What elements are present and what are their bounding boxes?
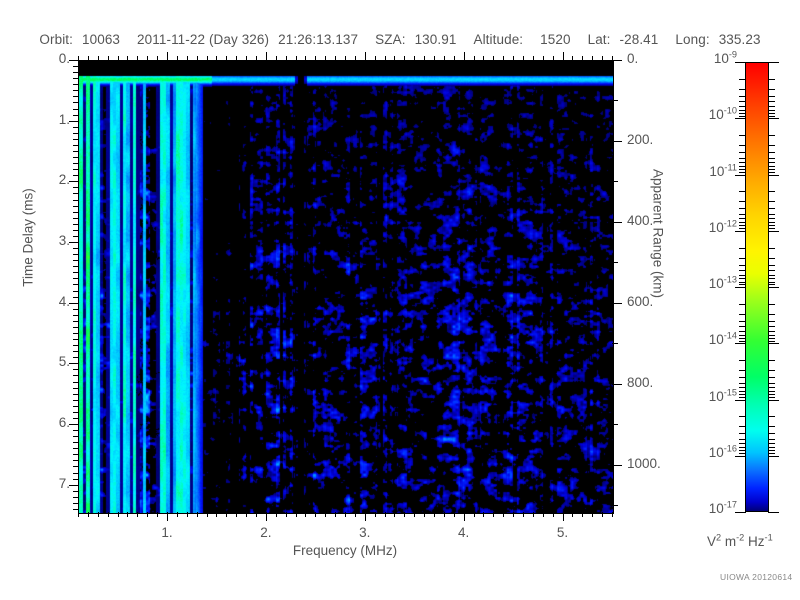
colorbar-tick-minor-right <box>768 397 775 398</box>
colorbar-units-label: V2 m-2 Hz-1 <box>707 534 773 549</box>
ionogram-plot-area <box>78 60 614 514</box>
colorbar-tick-minor-right <box>768 304 775 305</box>
colorbar-tick-minor-right <box>768 453 775 454</box>
colorbar-tick-label: 10-16 <box>679 445 737 460</box>
colorbar-tick-minor-right <box>768 341 775 342</box>
colorbar-tick-minor-right <box>768 96 775 97</box>
colorbar-tick-minor-right <box>768 110 775 111</box>
colorbar-tick-major-right <box>768 512 779 513</box>
colorbar-tick-major-left <box>735 512 746 513</box>
colorbar-tick-minor-right <box>768 321 775 322</box>
x-tick-label: 4. <box>444 525 484 540</box>
colorbar-tick-minor-right <box>768 172 775 173</box>
colorbar-tick-minor-right <box>768 433 775 434</box>
colorbar-tick-minor-right <box>768 338 775 339</box>
colorbar-tick-major-right <box>768 62 779 63</box>
y2-tick-label: 200. <box>627 132 687 147</box>
colorbar-tick-minor-right <box>768 314 775 315</box>
colorbar-tick-major-right <box>768 287 779 288</box>
lat-value: -28.41 <box>620 32 659 47</box>
credit-label: UIOWA 20120614 <box>720 572 792 582</box>
colorbar-tick-label: 10-10 <box>679 107 737 122</box>
colorbar-tick-label: 10-9 <box>679 51 737 66</box>
observation-date: 2011-11-22 (Day 326) <box>137 32 269 47</box>
colorbar-tick-major-right <box>768 118 779 119</box>
y2-axis-label-wrap: Apparent Range (km) <box>648 226 738 241</box>
colorbar-tick-minor-right <box>768 79 775 80</box>
long-value: 335.23 <box>719 32 761 47</box>
colorbar-tick-minor-right <box>768 391 775 392</box>
y-tick-label: 0. <box>26 51 70 66</box>
colorbar-tick-minor-right <box>768 218 775 219</box>
colorbar-tick-minor-right <box>768 208 775 209</box>
colorbar-tick-minor-right <box>768 326 775 327</box>
colorbar-tick-major-right <box>768 231 779 232</box>
header-metadata-line: Orbit:100632011-11-22 (Day 326)21:26:13.… <box>0 30 800 48</box>
y2-axis-label: Apparent Range (km) <box>651 154 666 314</box>
observation-time: 21:26:13.137 <box>278 32 358 47</box>
colorbar-tick-minor-right <box>768 394 775 395</box>
colorbar-tick-major-right <box>768 400 779 401</box>
colorbar-tick-minor-right <box>768 426 775 427</box>
colorbar-tick-major-right <box>768 456 779 457</box>
x-tick-label: 5. <box>543 525 583 540</box>
y2-tick-label: 0. <box>627 51 687 66</box>
sza-label: SZA: <box>375 32 405 47</box>
orbit-label: Orbit: <box>39 32 73 47</box>
colorbar-tick-minor-right <box>768 377 775 378</box>
y-tick-label: 6. <box>26 415 70 430</box>
colorbar-tick-minor-right <box>768 228 775 229</box>
colorbar-tick-major-right <box>768 175 779 176</box>
colorbar-tick-label: 10-17 <box>679 501 737 516</box>
x-tick-label: 2. <box>246 525 286 540</box>
y-tick-label: 1. <box>26 112 70 127</box>
y2-tick-label: 1000. <box>627 456 687 471</box>
x-tick-label: 1. <box>147 525 187 540</box>
colorbar-tick-minor-right <box>768 275 775 276</box>
colorbar-tick-label: 10-15 <box>679 389 737 404</box>
colorbar-tick-label: 10-14 <box>679 332 737 347</box>
colorbar-tick-minor-right <box>768 191 775 192</box>
altitude-value: 1520 <box>540 32 570 47</box>
colorbar-tick-minor-right <box>768 282 775 283</box>
colorbar-tick-major-right <box>768 343 779 344</box>
long-label: Long: <box>675 32 709 47</box>
altitude-label: Altitude: <box>473 32 523 47</box>
spectrogram-image <box>79 61 613 513</box>
colorbar-tick-minor-right <box>768 106 775 107</box>
colorbar-tick-minor-right <box>768 158 775 159</box>
colorbar-tick-minor-right <box>768 135 775 136</box>
colorbar-tick-minor-right <box>768 152 775 153</box>
colorbar-tick-minor-right <box>768 166 775 167</box>
colorbar-tick-minor-right <box>768 331 775 332</box>
colorbar-tick-label: 10-13 <box>679 276 737 291</box>
colorbar-tick-minor-right <box>768 450 775 451</box>
colorbar-tick-minor-right <box>768 145 775 146</box>
colorbar-tick-minor-right <box>768 222 775 223</box>
y-tick-label: 5. <box>26 354 70 369</box>
colorbar-tick-minor-right <box>768 116 775 117</box>
colorbar-tick-minor-right <box>768 284 775 285</box>
x-tick-label: 3. <box>345 525 385 540</box>
colorbar-tick-minor-right <box>768 162 775 163</box>
colorbar-tick-minor-right <box>768 265 775 266</box>
colorbar-tick-minor-right <box>768 214 775 215</box>
colorbar-tick-minor-right <box>768 248 775 249</box>
colorbar-tick-minor-right <box>768 383 775 384</box>
orbit-value: 10063 <box>82 32 120 47</box>
y-tick-label: 7. <box>26 476 70 491</box>
colorbar-tick-minor-right <box>768 278 775 279</box>
colorbar-tick-minor-right <box>768 387 775 388</box>
colorbar-gradient <box>745 62 769 512</box>
colorbar-tick-minor-right <box>768 258 775 259</box>
colorbar-tick-minor-right <box>768 113 775 114</box>
colorbar-tick-minor-right <box>768 89 775 90</box>
colorbar-tick-minor-right <box>768 439 775 440</box>
colorbar-tick-minor-right <box>768 225 775 226</box>
x-axis-label: Frequency (MHz) <box>78 543 612 558</box>
colorbar-tick-minor-right <box>768 416 775 417</box>
colorbar-tick-minor-right <box>768 201 775 202</box>
colorbar-tick-minor-right <box>768 370 775 371</box>
y2-tick-label: 800. <box>627 375 687 390</box>
colorbar-tick-minor-right <box>768 443 775 444</box>
colorbar-tick-minor-right <box>768 447 775 448</box>
colorbar <box>745 62 769 512</box>
y-axis-label: Time Delay (ms) <box>21 168 36 308</box>
colorbar-tick-minor-right <box>768 360 775 361</box>
colorbar-tick-minor-right <box>768 335 775 336</box>
colorbar-tick-minor-right <box>768 270 775 271</box>
lat-label: Lat: <box>588 32 611 47</box>
colorbar-tick-label: 10-11 <box>679 164 737 179</box>
colorbar-tick-minor-right <box>768 169 775 170</box>
colorbar-tick-minor-right <box>768 101 775 102</box>
sza-value: 130.91 <box>415 32 457 47</box>
